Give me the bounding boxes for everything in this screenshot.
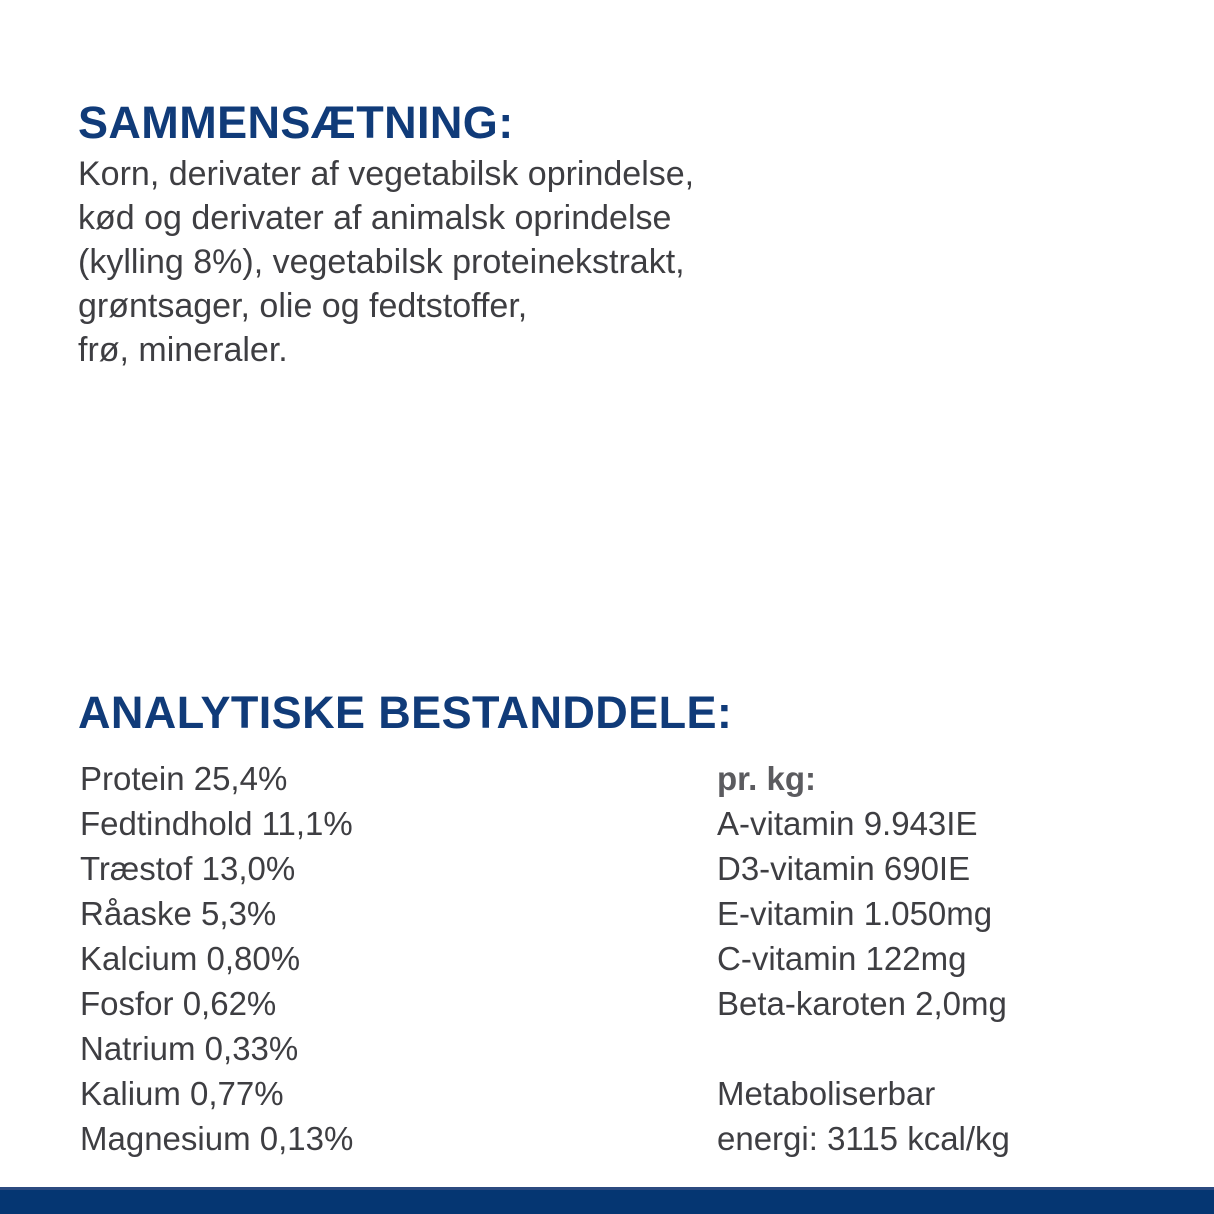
label-panel: SAMMENSÆTNING: Korn, derivater af vegeta…: [0, 0, 1214, 1214]
energy-row: Metaboliserbar: [717, 1071, 1187, 1116]
constituent-row: Natrium 0,33%: [80, 1026, 680, 1071]
column-spacer: [717, 1026, 1187, 1071]
ingredients-paragraph: Korn, derivater af vegetabilsk oprindels…: [78, 152, 1038, 372]
constituent-row: Protein 25,4%: [80, 756, 680, 801]
constituent-row: Kalcium 0,80%: [80, 936, 680, 981]
analytical-constituents: Protein 25,4% Fedtindhold 11,1% Træstof …: [0, 756, 1214, 1156]
composition-heading: SAMMENSÆTNING:: [78, 100, 514, 145]
nutrient-row: Beta-karoten 2,0mg: [717, 981, 1187, 1026]
nutrient-row: D3-vitamin 690IE: [717, 846, 1187, 891]
analytical-heading: ANALYTISKE BESTANDDELE:: [78, 690, 732, 735]
ingredients-line: frø, mineraler.: [78, 328, 1038, 372]
bottom-accent-bar: [0, 1187, 1214, 1214]
ingredients-line: (kylling 8%), vegetabilsk proteinekstrak…: [78, 240, 1038, 284]
ingredients-line: kød og derivater af animalsk oprindelse: [78, 196, 1038, 240]
constituent-row: Fedtindhold 11,1%: [80, 801, 680, 846]
nutrient-row: A-vitamin 9.943IE: [717, 801, 1187, 846]
constituent-row: Kalium 0,77%: [80, 1071, 680, 1116]
nutrient-row: C-vitamin 122mg: [717, 936, 1187, 981]
analytical-left-column: Protein 25,4% Fedtindhold 11,1% Træstof …: [80, 756, 680, 1161]
constituent-row: Fosfor 0,62%: [80, 981, 680, 1026]
constituent-row: Magnesium 0,13%: [80, 1116, 680, 1161]
per-kg-header: pr. kg:: [717, 756, 1187, 801]
constituent-row: Træstof 13,0%: [80, 846, 680, 891]
constituent-row: Råaske 5,3%: [80, 891, 680, 936]
energy-row: energi: 3115 kcal/kg: [717, 1116, 1187, 1161]
ingredients-line: grøntsager, olie og fedtstoffer,: [78, 284, 1038, 328]
analytical-right-column: pr. kg: A-vitamin 9.943IE D3-vitamin 690…: [717, 756, 1187, 1161]
ingredients-line: Korn, derivater af vegetabilsk oprindels…: [78, 152, 1038, 196]
nutrient-row: E-vitamin 1.050mg: [717, 891, 1187, 936]
